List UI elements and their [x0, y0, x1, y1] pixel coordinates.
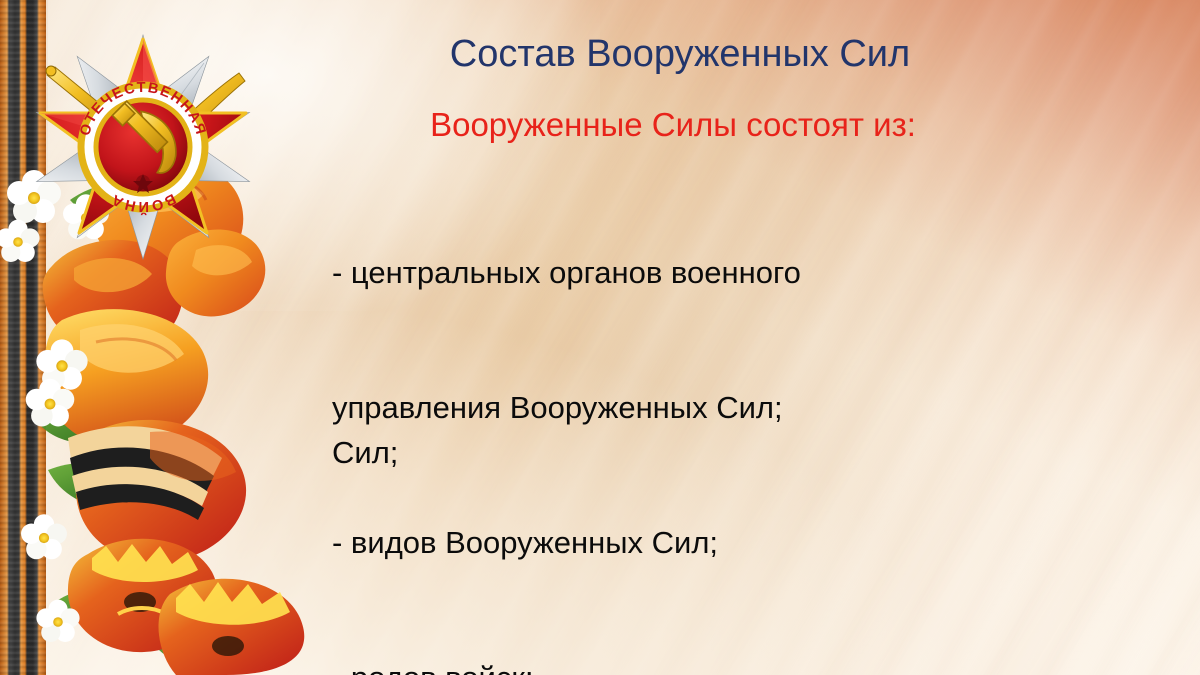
body-line: Сил;	[332, 430, 398, 475]
body-line: - видов Вооруженных Сил;	[332, 520, 1122, 565]
body-line: - центральных органов военного	[332, 250, 1122, 295]
body-line: управления Вооруженных Сил;	[332, 385, 1122, 430]
slide-body-text: - центральных органов военного управлени…	[332, 160, 1122, 675]
order-of-the-patriotic-war-medal: ОТЕЧЕСТВЕННАЯ ВОЙНА	[18, 22, 268, 272]
page-title: Состав Вооруженных Сил	[300, 32, 1060, 76]
body-line: - родов войск;	[332, 655, 1122, 675]
presentation-slide: ОТЕЧЕСТВЕННАЯ ВОЙНА Состав Вооруженных С…	[0, 0, 1200, 675]
slide-subtitle: Вооруженные Силы состоят из:	[328, 104, 1018, 145]
tulip-fringed-right	[159, 579, 305, 675]
